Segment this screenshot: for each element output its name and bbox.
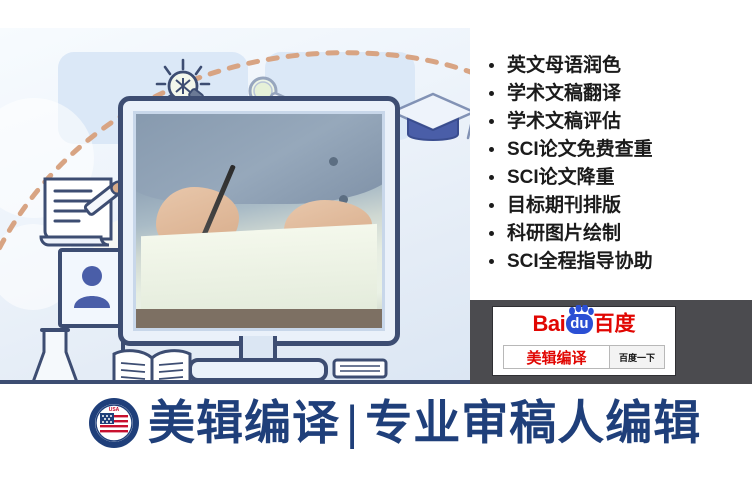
illustration-panel [0,28,470,384]
service-item: SCI论文降重 [487,164,745,191]
photo-desk [136,309,382,328]
service-item: 英文母语润色 [487,52,745,79]
brand-text: 美辑编译|专业审稿人编辑 [148,396,701,450]
service-item: 学术文稿评估 [487,108,745,135]
search-input[interactable]: 美辑编译 [504,346,609,368]
baidu-logo-du-wrap: du [566,314,592,334]
service-item: 学术文稿翻译 [487,80,745,107]
graduation-cap-icon [388,90,470,152]
service-list: 英文母语润色 学术文稿翻译 学术文稿评估 SCI论文免费查重 SCI论文降重 目… [487,52,745,276]
open-book-icon [110,346,194,384]
avatar-icon [72,262,112,308]
brand-name: 美辑编译 [148,396,340,449]
writing-photo [136,114,382,328]
paw-print-icon [568,305,594,315]
flask-icon [22,324,88,384]
service-item: SCI全程指导协助 [487,248,745,275]
baidu-search-row[interactable]: 美辑编译 百度一下 [503,345,665,369]
baidu-logo-bai: Bai [532,311,565,336]
banner-root: 英文母语润色 学术文稿翻译 学术文稿评估 SCI论文免费查重 SCI论文降重 目… [0,0,752,480]
scroll-pen-icon [35,173,131,255]
baidu-logo: Baidu百度 [493,313,675,335]
baidu-logo-du: du [566,314,592,334]
photo-sleeve [136,114,382,204]
brand-tagline: 专业审稿人编辑 [365,396,701,449]
monitor-base [188,358,328,382]
service-item: 科研图片绘制 [487,220,745,247]
service-item: 目标期刊排版 [487,192,745,219]
service-item: SCI论文免费查重 [487,136,745,163]
brand-bar: USA 美辑编译|专业审稿人编辑 [0,384,752,480]
brand-lockup: USA 美辑编译|专业审稿人编辑 [88,396,701,450]
search-button[interactable]: 百度一下 [609,346,664,368]
photo-shirt-button-1 [329,157,338,166]
monitor-icon [118,96,400,346]
usa-seal-icon: USA [88,397,140,449]
seal-usa-text: USA [109,407,120,413]
brand-separator: | [346,396,359,449]
baidu-search-widget[interactable]: Baidu百度 美辑编译 百度一下 [492,306,676,376]
baidu-logo-cn: 百度 [594,313,636,336]
monitor-screen [133,111,385,331]
